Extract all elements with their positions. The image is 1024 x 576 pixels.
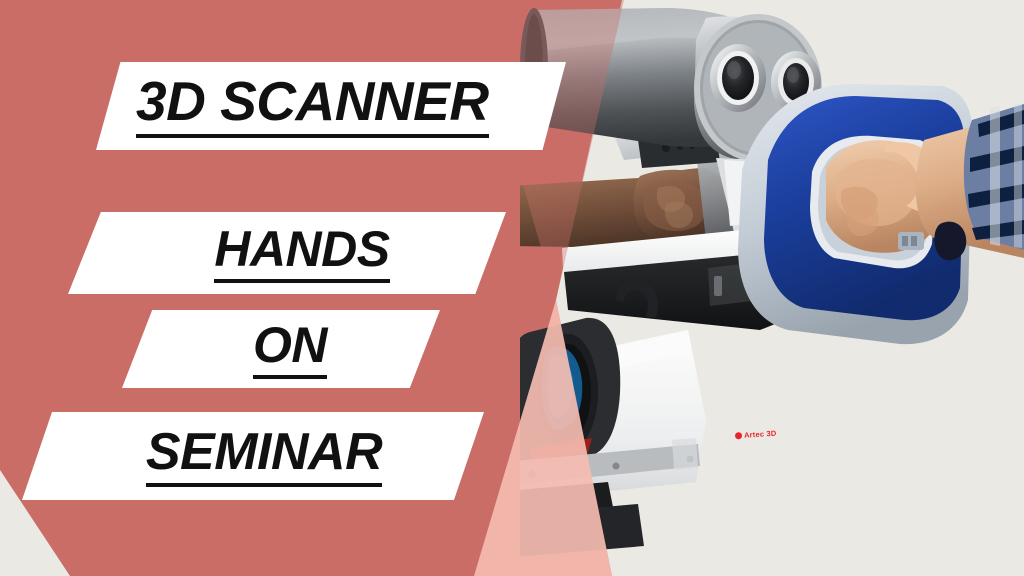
headline-banner-stack: 3D SCANNER HANDS ON SEMINAR (0, 0, 620, 576)
artec-logo-dot (735, 432, 742, 439)
photo-blue-scanner (738, 84, 1024, 344)
poster-canvas: Artec 3D 3D SCANNER HANDS ON SEMINAR (0, 0, 1024, 576)
banner-hands: HANDS (68, 212, 506, 294)
banner-hands-text: HANDS (214, 224, 389, 283)
banner-3d-scanner: 3D SCANNER (96, 62, 566, 150)
banner-seminar-text: SEMINAR (146, 426, 382, 487)
banner-3d-scanner-text: 3D SCANNER (136, 74, 489, 138)
banner-on: ON (122, 310, 440, 388)
banner-on-text: ON (253, 320, 327, 379)
banner-seminar: SEMINAR (22, 412, 484, 500)
